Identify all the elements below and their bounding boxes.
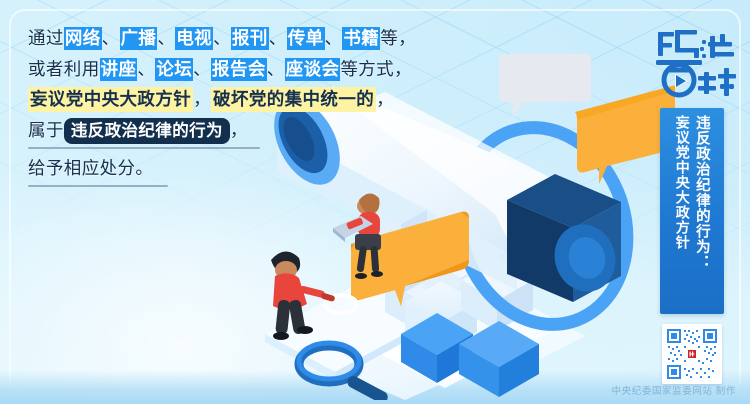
text-line-3: 妄议党中央大政方针，破坏党的集中统一的， (28, 91, 428, 109)
main-text-block: 通过网络、广播、电视、报刊、传单、书籍等， 或者利用讲座、论坛、报告会、座谈会等… (28, 30, 428, 198)
emphasis-highlight: 妄议党中央大政方针 (28, 87, 193, 112)
poster-canvas: 通过网络、广播、电视、报刊、传单、书籍等， 或者利用讲座、论坛、报告会、座谈会等… (0, 0, 750, 404)
seg-plain: 、 (102, 28, 120, 48)
keyword-highlight: 电视 (175, 27, 213, 50)
keyword-highlight: 传单 (287, 27, 325, 50)
seg-plain: 或者利用 (28, 59, 100, 79)
vertical-column-right: 违反政治纪律的行为： (693, 115, 710, 307)
keyword-highlight: 讲座 (100, 58, 138, 81)
divider-rule-2 (28, 185, 168, 187)
seg-plain: 属于 (28, 120, 64, 140)
keyword-highlight: 座谈会 (285, 58, 341, 81)
keyword-highlight: 广播 (120, 27, 158, 50)
seg-plain: 、 (269, 28, 287, 48)
logo-char-ke (698, 68, 736, 96)
seg-plain: 通过 (28, 28, 64, 48)
seg-plain: ， (193, 89, 211, 109)
conclusion-pill: 违反政治纪律的行为 (64, 118, 230, 144)
seg-plain: 等， (380, 28, 416, 48)
qr-code[interactable] (662, 324, 722, 384)
divider-rule-1 (28, 147, 260, 149)
seg-plain: ， (230, 120, 248, 140)
seg-plain: 、 (213, 28, 231, 48)
keyword-highlight: 报告会 (211, 58, 267, 81)
keyword-highlight: 网络 (64, 27, 102, 50)
right-sidebar: 违反政治纪律的行为： 妄议党中央大政方针 (638, 0, 750, 404)
emphasis-highlight: 破坏党的集中统一的 (211, 87, 376, 112)
text-line-2: 或者利用讲座、论坛、报告会、座谈会等方式， (28, 61, 428, 79)
seg-plain: 、 (267, 59, 285, 79)
seg-plain: ， (376, 89, 394, 109)
seg-plain: 、 (325, 28, 343, 48)
credit-text: 中央纪委国家监委网站 制作 (612, 383, 736, 397)
logo-char-ji (658, 30, 699, 58)
text-line-1: 通过网络、广播、电视、报刊、传单、书籍等， (28, 30, 428, 48)
person-sitting-laptop (333, 193, 383, 279)
seg-plain: 等方式， (340, 59, 412, 79)
vertical-title-panel: 违反政治纪律的行为： 妄议党中央大政方针 (660, 108, 724, 314)
seg-plain: 、 (193, 59, 211, 79)
brand-logo-jifa-baike[interactable] (654, 24, 740, 98)
logo-char-bai-circle (664, 65, 694, 95)
logo-char-fa (700, 34, 734, 58)
seg-plain: 给予相应处分。 (28, 158, 153, 178)
keyword-highlight: 报刊 (231, 27, 269, 50)
text-line-5: 给予相应处分。 (28, 160, 428, 178)
speech-bubble-white (499, 54, 591, 118)
text-line-4: 属于违反政治纪律的行为， (28, 122, 428, 140)
keyword-highlight: 论坛 (155, 58, 193, 81)
seg-plain: 、 (157, 28, 175, 48)
keyword-highlight: 书籍 (342, 27, 380, 50)
vertical-column-left: 妄议党中央大政方针 (674, 115, 691, 307)
seg-plain: 、 (137, 59, 155, 79)
